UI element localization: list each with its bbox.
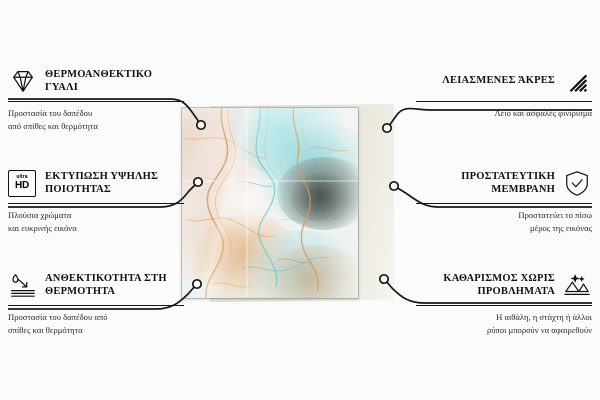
feature-heat-resistance[interactable]: ΑΝΘΕΚΤΙΚΟΤΗΤΑ ΣΤΗ ΘΕΡΜΟΤΗΤΑ Προστασία το… [8, 268, 184, 336]
divider [8, 203, 184, 204]
shield-check-icon [562, 169, 592, 197]
glass-panel [182, 108, 358, 298]
feature-title: ΛΕΙΑΣΜΕΝΕΣ ΆΚΡΕΣ [442, 74, 555, 87]
divider [416, 203, 592, 204]
feature-title: ΠΡΟΣΤΑΤΕΥΤΙΚΗ ΜΕΜΒΡΑΝΗ [416, 170, 555, 197]
feature-header: ΘΕΡΜΟΑΝΘΕΚΤΙΚΟ ΓΥΑΛΙ [8, 64, 184, 98]
feature-title: ΑΝΘΕΚΤΙΚΟΤΗΤΑ ΣΤΗ ΘΕΡΜΟΤΗΤΑ [45, 272, 184, 299]
feature-title: ΚΑΘΑΡΙΣΜΟΣ ΧΩΡΙΣ ΠΡΟΒΛΗΜΑΤΑ [416, 272, 555, 299]
feature-header: ΛΕΙΑΣΜΕΝΕΣ ΆΚΡΕΣ [416, 64, 592, 98]
ink-veins [182, 108, 358, 298]
badge-bottom-label: HD [15, 181, 29, 191]
feature-title: ΕΚΤΥΠΩΣΗ ΥΨΗΛΗΣ ΠΟΙΟΤΗΤΑΣ [45, 170, 184, 197]
infographic-stage: ΘΕΡΜΟΑΝΘΕΚΤΙΚΟ ΓΥΑΛΙ Προστασία του δαπέδ… [0, 0, 600, 400]
heat-resistance-icon [8, 271, 38, 299]
feature-description: Προστασία του δαπέδουαπό σπίθες και θερμ… [8, 107, 184, 131]
easy-clean-sparkle-icon [562, 271, 592, 299]
marble-artwork [182, 108, 358, 298]
feature-description: Προστατεύει το πίσωμέρος της εικόνας [416, 209, 592, 233]
feature-description: Η αιθάλη, η στάχτη ή άλλοιρύποι μπορούν … [416, 311, 592, 335]
feature-header: ΠΡΟΣΤΑΤΕΥΤΙΚΗ ΜΕΜΒΡΑΝΗ [416, 166, 592, 200]
feature-smooth-edges[interactable]: ΛΕΙΑΣΜΕΝΕΣ ΆΚΡΕΣ Λείο και ασφαλές φινίρι… [416, 64, 592, 120]
feature-title: ΘΕΡΜΟΑΝΘΕΚΤΙΚΟ ΓΥΑΛΙ [45, 68, 184, 95]
diamond-icon [8, 67, 38, 95]
divider [8, 305, 184, 306]
feature-header: ΚΑΘΑΡΙΣΜΟΣ ΧΩΡΙΣ ΠΡΟΒΛΗΜΑΤΑ [416, 268, 592, 302]
product-image [182, 108, 394, 300]
feature-easy-cleaning[interactable]: ΚΑΘΑΡΙΣΜΟΣ ΧΩΡΙΣ ΠΡΟΒΛΗΜΑΤΑ Η αιθάλη, η … [416, 268, 592, 336]
feature-description: Προστασία του δαπέδου απόσπίθες και θερμ… [8, 311, 184, 335]
feature-high-quality-print[interactable]: ultra HD ΕΚΤΥΠΩΣΗ ΥΨΗΛΗΣ ΠΟΙΟΤΗΤΑΣ Πλούσ… [8, 166, 184, 234]
smooth-edges-icon [562, 67, 592, 95]
feature-protective-membrane[interactable]: ΠΡΟΣΤΑΤΕΥΤΙΚΗ ΜΕΜΒΡΑΝΗ Προστατεύει το πί… [416, 166, 592, 234]
divider [416, 305, 592, 306]
divider [416, 101, 592, 102]
divider [8, 101, 184, 102]
feature-description: Πλούσια χρώματακαι ευκρινής εικόνα [8, 209, 184, 233]
feature-heat-resistant-glass[interactable]: ΘΕΡΜΟΑΝΘΕΚΤΙΚΟ ΓΥΑΛΙ Προστασία του δαπέδ… [8, 64, 184, 132]
ultra-hd-badge-icon: ultra HD [8, 169, 38, 197]
feature-header: ΑΝΘΕΚΤΙΚΟΤΗΤΑ ΣΤΗ ΘΕΡΜΟΤΗΤΑ [8, 268, 184, 302]
feature-description: Λείο και ασφαλές φινίρισμα [416, 107, 592, 119]
feature-header: ultra HD ΕΚΤΥΠΩΣΗ ΥΨΗΛΗΣ ΠΟΙΟΤΗΤΑΣ [8, 166, 184, 200]
